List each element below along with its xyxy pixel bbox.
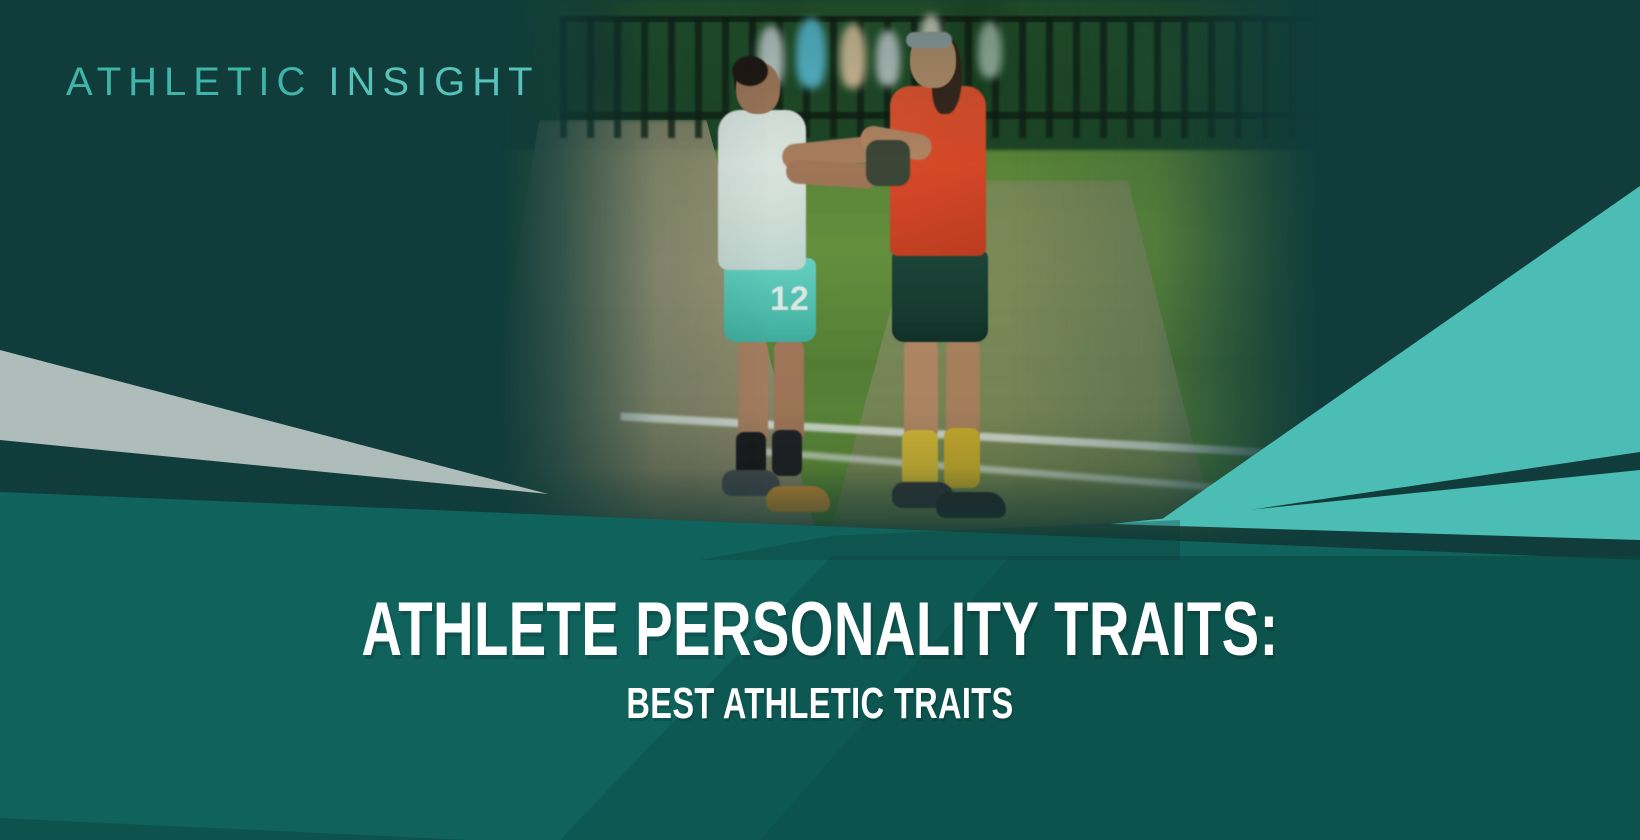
brand-logo[interactable]: ATHLETICINSIGHT bbox=[66, 62, 540, 102]
gray-wedge bbox=[0, 350, 548, 494]
bright-teal-wedge-upper bbox=[1155, 186, 1640, 524]
logo-word-insight: INSIGHT bbox=[328, 60, 539, 104]
title-block: ATHLETE PERSONALITY TRAITS: BEST ATHLETI… bbox=[0, 592, 1640, 726]
logo-word-athletic: ATHLETIC bbox=[66, 60, 312, 104]
page-subtitle: BEST ATHLETIC TRAITS bbox=[213, 682, 1427, 726]
page-title: ATHLETE PERSONALITY TRAITS: bbox=[213, 592, 1427, 668]
hero-banner: 12 bbox=[0, 0, 1640, 840]
